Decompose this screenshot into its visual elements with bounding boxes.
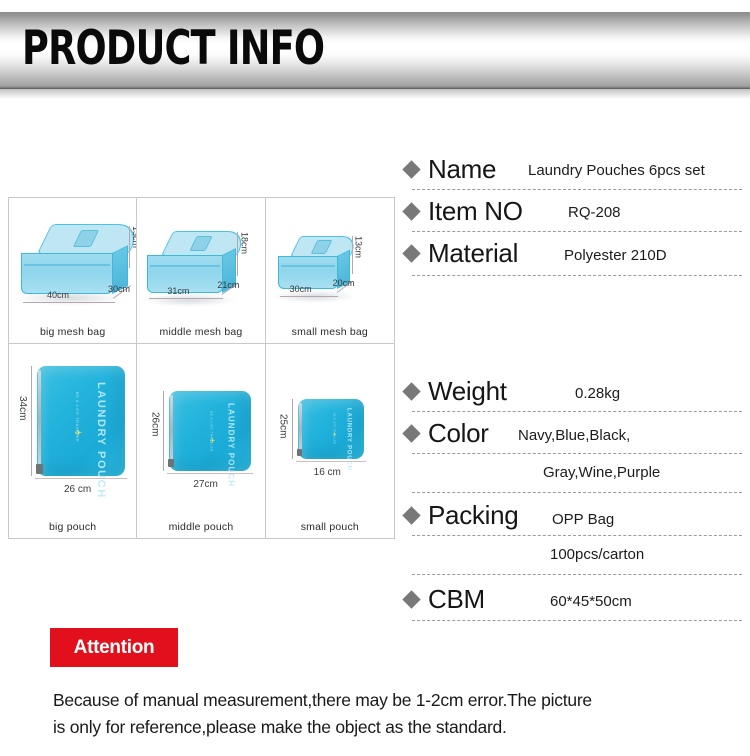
spec-key-label: Name xyxy=(428,154,496,185)
dim-height-label: 26cm xyxy=(149,412,160,436)
spec-key-label: Weight xyxy=(428,376,507,407)
disclaimer-line-1: Because of manual measurement,there may … xyxy=(53,687,743,714)
bag-front-panel xyxy=(21,253,113,294)
dim-rule-height xyxy=(31,366,32,476)
pouch-brand-text: LAUNDRY POUCH xyxy=(226,403,235,487)
product-cell-big-mesh-bag: 40cm 13cm 30cm big mesh bag xyxy=(9,198,137,344)
diamond-bullet-icon xyxy=(402,590,420,608)
disclaimer-text: Because of manual measurement,there may … xyxy=(53,687,743,741)
spec-value-label: 0.28kg xyxy=(575,385,620,402)
dim-rule-width xyxy=(296,461,366,462)
product-illustration-middle-mesh-bag: 31cm 18cm 21cm xyxy=(137,198,264,321)
dim-width-label: 27cm xyxy=(193,479,217,490)
pouch-zipper-pull xyxy=(168,459,174,467)
product-illustration-big-pouch: LAUNDRY POUCH BE A LIFE TRAVELER ✈ 34cm … xyxy=(9,344,136,516)
dim-height-label: 34cm xyxy=(17,396,28,420)
disclaimer-line-2: is only for reference,please make the ob… xyxy=(53,714,743,741)
spec-value-label: Navy,Blue,Black, xyxy=(518,427,630,444)
spec-separator xyxy=(412,453,742,454)
diamond-bullet-icon xyxy=(402,506,420,524)
dim-depth-label: 21cm xyxy=(217,280,239,290)
attention-badge: Attention xyxy=(50,628,178,667)
product-cell-caption: big mesh bag xyxy=(9,326,136,338)
dim-width-label: 31cm xyxy=(167,286,189,296)
bag-zipper-line xyxy=(150,265,220,267)
product-spec-list: Name Laundry Pouches 6pcs set Item NO RQ… xyxy=(400,150,748,632)
spec-row-name: Name Laundry Pouches 6pcs set xyxy=(400,150,748,192)
spec-key-label: Material xyxy=(428,238,518,269)
spec-row-packing: Packing OPP Bag xyxy=(400,496,748,538)
dim-width-label: 40cm xyxy=(47,290,69,300)
spec-row-weight: Weight 0.28kg xyxy=(400,372,748,414)
airplane-icon: ✈ xyxy=(74,428,82,439)
spec-row-packing-continued: 100pcs/carton xyxy=(400,538,748,578)
attention-label: Attention xyxy=(50,628,178,667)
dim-rule-width xyxy=(167,473,253,474)
spec-separator xyxy=(412,411,742,412)
spec-separator xyxy=(412,231,742,232)
dim-height-label: 25cm xyxy=(278,414,289,438)
product-illustration-big-mesh-bag: 40cm 13cm 30cm xyxy=(9,198,136,321)
product-cell-small-pouch: LAUNDRY POUCH BE A LIFE TRAVELER ✈ 25cm … xyxy=(266,344,394,538)
spec-key-label: Packing xyxy=(428,500,518,531)
dim-rule-height xyxy=(292,399,293,459)
diamond-bullet-icon xyxy=(402,202,420,220)
dim-width-label: 30cm xyxy=(290,284,312,294)
product-cell-caption: middle mesh bag xyxy=(137,326,264,338)
spec-separator xyxy=(412,535,742,536)
spec-separator xyxy=(412,574,742,575)
pouch-zipper xyxy=(170,395,173,467)
airplane-icon: ✈ xyxy=(332,432,336,438)
dim-height-label: 13cm xyxy=(354,236,364,258)
dim-rule-height xyxy=(129,226,130,268)
spec-separator xyxy=(412,189,742,190)
page-title: PRODUCT INFO xyxy=(22,20,324,78)
pouch-zipper-pull xyxy=(297,449,302,456)
product-cell-caption: small mesh bag xyxy=(266,326,394,338)
product-cell-big-pouch: LAUNDRY POUCH BE A LIFE TRAVELER ✈ 34cm … xyxy=(9,344,137,538)
pouch-brand-text: LAUNDRY POUCH xyxy=(95,382,107,499)
dim-width-label: 26 cm xyxy=(64,484,91,495)
spec-value-label-continued: 100pcs/carton xyxy=(550,546,644,563)
pouch-body: LAUNDRY POUCH BE A LIFE TRAVELER ✈ xyxy=(37,366,125,476)
dim-height-label: 18cm xyxy=(239,232,249,254)
spec-value-label-continued: Gray,Wine,Purple xyxy=(543,464,660,481)
product-cell-caption: middle pouch xyxy=(137,521,264,533)
spec-key-label: Color xyxy=(428,418,489,449)
airplane-icon: ✈ xyxy=(209,437,215,445)
bag-zipper-line xyxy=(24,264,110,266)
pouch-zipper xyxy=(38,370,41,472)
spec-key-label: CBM xyxy=(428,584,485,615)
spec-value-label: Polyester 210D xyxy=(564,247,667,264)
spec-separator xyxy=(412,275,742,276)
spec-row-color-continued: Gray,Wine,Purple xyxy=(400,456,748,496)
spec-value-label: 60*45*50cm xyxy=(550,593,632,610)
dim-width-label: 16 cm xyxy=(314,467,341,478)
pouch-body: LAUNDRY POUCH BE A LIFE TRAVELER ✈ xyxy=(169,391,251,471)
spec-value-label: OPP Bag xyxy=(552,511,614,528)
dim-rule-width xyxy=(35,478,127,479)
dim-rule-width xyxy=(23,302,115,303)
product-cell-middle-pouch: LAUNDRY POUCH BE A LIFE TRAVELER ✈ 26cm … xyxy=(137,344,265,538)
pouch-zipper-pull xyxy=(36,464,43,474)
diamond-bullet-icon xyxy=(402,424,420,442)
pouch-subtitle-text: BE A LIFE TRAVELER xyxy=(209,411,213,452)
diamond-bullet-icon xyxy=(402,160,420,178)
dim-rule-height xyxy=(352,236,353,274)
dim-rule-height xyxy=(163,391,164,471)
spec-separator xyxy=(412,620,742,621)
dim-depth-label: 30cm xyxy=(108,284,130,294)
pouch-zipper xyxy=(299,403,302,455)
product-cell-middle-mesh-bag: 31cm 18cm 21cm middle mesh bag xyxy=(137,198,265,344)
diamond-bullet-icon xyxy=(402,382,420,400)
spec-row-item-no: Item NO RQ-208 xyxy=(400,192,748,234)
spec-row-material: Material Polyester 210D xyxy=(400,234,748,278)
dim-rule-width xyxy=(280,296,338,297)
product-cell-caption: small pouch xyxy=(266,521,394,533)
spec-key-label: Item NO xyxy=(428,196,523,227)
bag-zipper-line xyxy=(281,265,335,267)
dim-depth-label: 20cm xyxy=(333,278,355,288)
pouch-body: LAUNDRY POUCH BE A LIFE TRAVELER ✈ xyxy=(298,399,364,459)
spec-row-cbm: CBM 60*45*50cm xyxy=(400,578,748,622)
spec-value-label: Laundry Pouches 6pcs set xyxy=(528,162,705,179)
spec-row-color: Color Navy,Blue,Black, xyxy=(400,414,748,456)
product-illustration-small-pouch: LAUNDRY POUCH BE A LIFE TRAVELER ✈ 25cm … xyxy=(266,344,394,516)
product-illustration-small-mesh-bag: 30cm 13cm 20cm xyxy=(266,198,394,321)
dim-rule-height xyxy=(237,232,238,276)
product-image-grid: 40cm 13cm 30cm big mesh bag 31cm 18cm 21… xyxy=(8,197,395,539)
spec-separator xyxy=(412,492,742,493)
product-cell-caption: big pouch xyxy=(9,521,136,533)
product-cell-small-mesh-bag: 30cm 13cm 20cm small mesh bag xyxy=(266,198,394,344)
spec-value-label: RQ-208 xyxy=(568,204,621,221)
diamond-bullet-icon xyxy=(402,244,420,262)
dim-rule-width xyxy=(149,298,223,299)
header-shadow xyxy=(0,89,750,99)
pouch-subtitle-text: BE A LIFE TRAVELER xyxy=(333,413,336,444)
product-illustration-middle-pouch: LAUNDRY POUCH BE A LIFE TRAVELER ✈ 26cm … xyxy=(137,344,264,516)
